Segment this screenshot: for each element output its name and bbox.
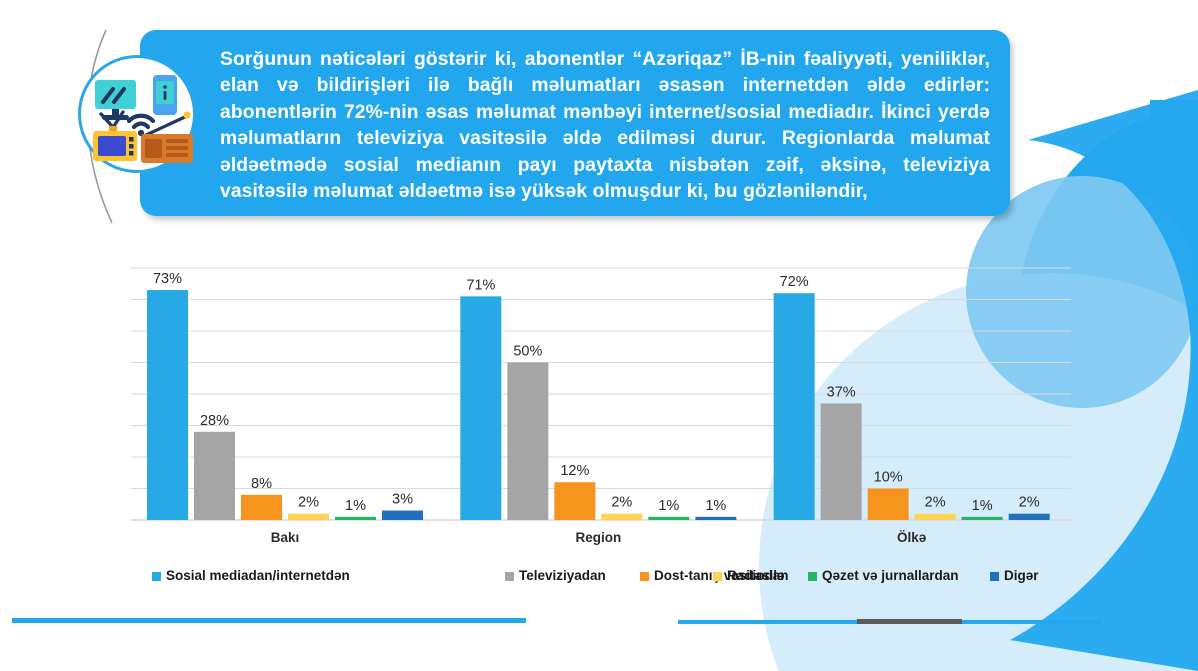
bar	[648, 517, 689, 520]
legend-swatch	[152, 572, 161, 581]
bar	[601, 514, 642, 520]
bar-value-label: 50%	[513, 344, 542, 360]
bar-value-label: 28%	[200, 413, 229, 429]
bar-value-label: 3%	[392, 492, 413, 508]
bar	[554, 482, 595, 520]
bar	[695, 517, 736, 520]
bar	[382, 511, 423, 520]
bar	[774, 293, 815, 520]
bar	[288, 514, 329, 520]
bar-value-label: 1%	[705, 498, 726, 514]
bar-value-label: 2%	[925, 495, 946, 511]
chart-gridlines	[131, 268, 1071, 520]
bar	[868, 489, 909, 521]
bar	[460, 296, 501, 520]
category-label: Bakı	[271, 530, 300, 545]
bar-value-label: 10%	[874, 470, 903, 486]
bar	[241, 495, 282, 520]
bar-value-label: 1%	[972, 498, 993, 514]
callout-text: Sorğunun nəticələri göstərir ki, abonent…	[220, 47, 990, 205]
legend-swatch	[990, 572, 999, 581]
category-label: Ölkə	[897, 530, 927, 545]
chart-bars	[147, 290, 1050, 520]
slide-canvas: 73%28%8%2%1%3%71%50%12%2%1%1%72%37%10%2%…	[0, 0, 1198, 671]
bar-value-label: 73%	[153, 271, 182, 287]
bar	[507, 363, 548, 521]
bar	[915, 514, 956, 520]
bar-value-label: 2%	[611, 495, 632, 511]
bar-value-label: 1%	[345, 498, 366, 514]
legend-swatch	[713, 572, 722, 581]
legend-label: Digər	[1004, 568, 1039, 583]
legend-label: Sosial mediadan/internetdən	[166, 568, 350, 583]
category-label: Region	[575, 530, 621, 545]
bar	[821, 403, 862, 520]
bar	[962, 517, 1003, 520]
legend-label: Qəzet və jurnallardan	[822, 568, 959, 583]
legend-swatch	[808, 572, 817, 581]
bar	[1009, 514, 1050, 520]
bar-value-label: 8%	[251, 476, 272, 492]
legend-swatch	[505, 572, 514, 581]
legend-swatch	[640, 572, 649, 581]
bar-value-label: 12%	[560, 463, 589, 479]
bar-value-label: 37%	[827, 384, 856, 400]
smartphone-icon	[153, 75, 177, 115]
bar-value-label: 2%	[1019, 495, 1040, 511]
chart-category-labels: BakıRegionÖlkə	[271, 530, 927, 545]
bar-value-label: 2%	[298, 495, 319, 511]
bar	[147, 290, 188, 520]
legend-label: Radiodan	[727, 568, 789, 583]
chart-value-labels: 73%28%8%2%1%3%71%50%12%2%1%1%72%37%10%2%…	[153, 271, 1040, 514]
media-devices-icon	[78, 55, 196, 173]
bar-value-label: 72%	[780, 274, 809, 290]
bar	[335, 517, 376, 520]
bar-value-label: 1%	[658, 498, 679, 514]
bar-value-label: 71%	[466, 277, 495, 293]
callout-textbox: Sorğunun nəticələri göstərir ki, abonent…	[140, 30, 1010, 216]
bar	[194, 432, 235, 520]
chart-legend: Sosial mediadan/internetdənTeleviziyadan…	[152, 568, 1039, 583]
legend-label: Televiziyadan	[519, 568, 606, 583]
